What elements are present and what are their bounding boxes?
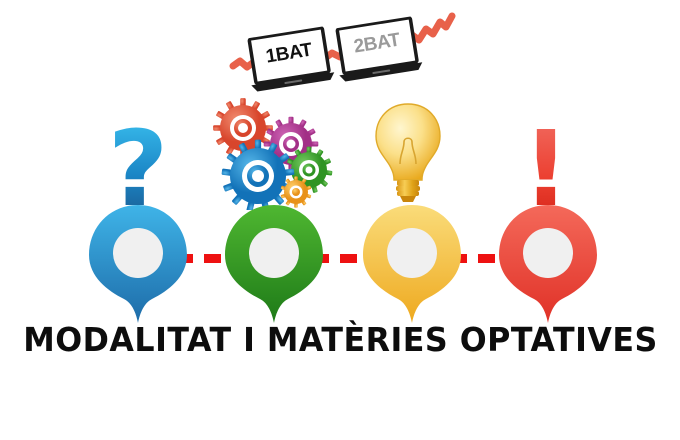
icon-slot-exclamation: ! xyxy=(476,92,616,210)
icon-slot-question: ? xyxy=(68,92,208,210)
pin-yellow[interactable] xyxy=(360,203,464,325)
icon-slot-lightbulb xyxy=(338,92,478,210)
pin-red[interactable] xyxy=(496,203,600,325)
pin-blue[interactable] xyxy=(86,203,190,325)
icons-row: ? xyxy=(0,92,680,210)
page-title: MODALITAT I MATÈRIES OPTATIVES xyxy=(23,320,658,359)
lightbulb-icon xyxy=(358,92,458,210)
pins-row xyxy=(0,203,680,325)
title-bar: MODALITAT I MATÈRIES OPTATIVES xyxy=(0,320,680,359)
pin-green[interactable] xyxy=(222,203,326,325)
slide-canvas: 1BAT 2BAT ? xyxy=(0,0,680,440)
gears-icon xyxy=(203,92,343,210)
icon-slot-gears xyxy=(203,92,343,210)
